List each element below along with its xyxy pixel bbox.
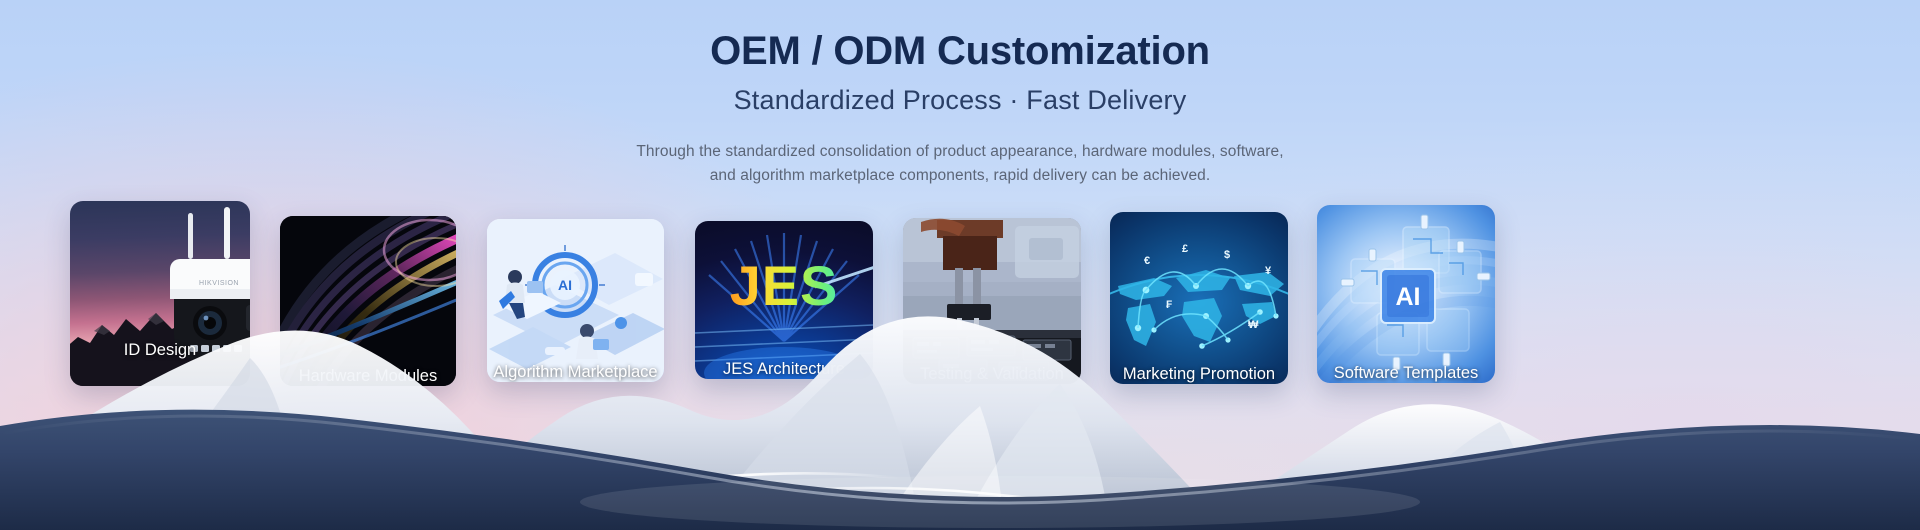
- capability-card-software-templates[interactable]: AI Software Templates: [1317, 205, 1495, 383]
- isometric-workspace-icon: AI: [487, 219, 664, 382]
- algorithm-marketplace-artwork: AI: [487, 219, 664, 382]
- svg-text:€: €: [1144, 255, 1150, 267]
- page-subtitle: Standardized Process · Fast Delivery: [0, 85, 1920, 116]
- card-label: Software Templates: [1317, 364, 1495, 383]
- hero-text-block: OEM / ODM Customization Standardized Pro…: [0, 0, 1920, 188]
- card-label: JES Architecture: [695, 360, 873, 379]
- software-templates-artwork: AI: [1317, 205, 1495, 383]
- global-network-map-icon: € £ $ ¥ ₣ ₩: [1110, 212, 1288, 384]
- svg-text:AI: AI: [558, 277, 572, 293]
- capability-card-hardware-modules[interactable]: Hardware Modules: [280, 216, 456, 386]
- svg-text:HIKVISION: HIKVISION: [199, 280, 239, 287]
- page-description: Through the standardized consolidation o…: [0, 140, 1920, 188]
- marketing-promotion-artwork: € £ $ ¥ ₣ ₩: [1110, 212, 1288, 384]
- page-title: OEM / ODM Customization: [0, 28, 1920, 74]
- svg-text:¥: ¥: [1265, 265, 1272, 277]
- capability-card-testing-validation[interactable]: Testing & Validation: [903, 218, 1081, 384]
- description-line-1: Through the standardized consolidation o…: [0, 140, 1920, 164]
- oem-odm-hero-banner: OEM / ODM Customization Standardized Pro…: [0, 0, 1920, 530]
- card-label: Marketing Promotion: [1110, 365, 1288, 384]
- ai-cube-label: AI: [1396, 283, 1421, 311]
- card-label: ID Design: [70, 341, 250, 360]
- concentric-rings-icon: [280, 216, 456, 386]
- testing-validation-artwork: [903, 218, 1081, 384]
- capability-card-algorithm-marketplace[interactable]: AI: [487, 219, 664, 382]
- pick-and-place-machine-icon: [903, 218, 1081, 384]
- svg-text:£: £: [1182, 243, 1188, 255]
- jes-architecture-artwork: JES: [695, 221, 873, 379]
- ai-glass-cubes-icon: AI: [1317, 205, 1495, 383]
- jes-logo: JES: [695, 253, 873, 318]
- card-label: Algorithm Marketplace: [487, 363, 664, 382]
- svg-text:$: $: [1224, 249, 1230, 261]
- card-label: Hardware Modules: [280, 367, 456, 386]
- description-line-2: and algorithm marketplace components, ra…: [0, 164, 1920, 188]
- svg-text:₣: ₣: [1166, 299, 1172, 311]
- capability-card-jes-architecture[interactable]: JES JES Architecture: [695, 221, 873, 379]
- capability-card-marketing-promotion[interactable]: € £ $ ¥ ₣ ₩ Marketing Promotion: [1110, 212, 1288, 384]
- svg-text:₩: ₩: [1248, 319, 1259, 331]
- card-label: Testing & Validation: [903, 365, 1081, 384]
- capability-card-id-design[interactable]: HIKVISION ID Design: [70, 201, 250, 386]
- hardware-modules-artwork: [280, 216, 456, 386]
